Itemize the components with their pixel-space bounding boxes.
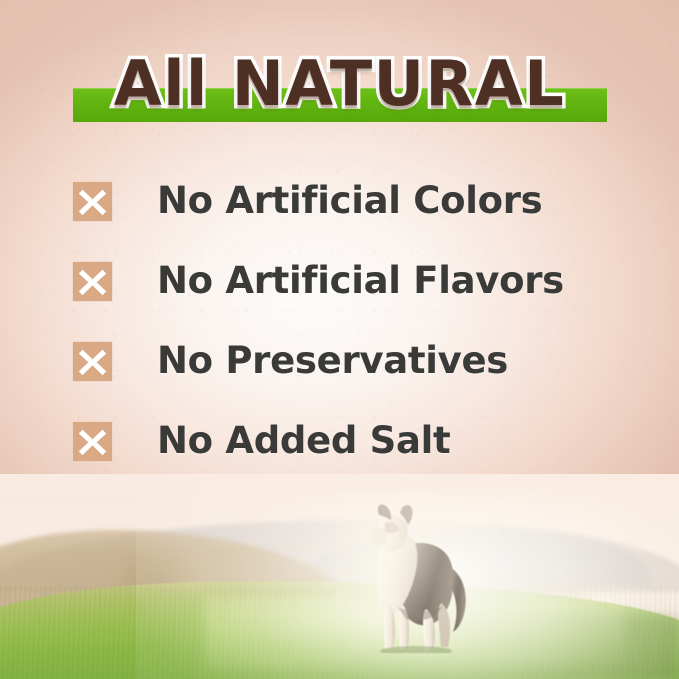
feature-label: No Artificial Flavors [157, 254, 564, 308]
hillside-landscape-icon [0, 474, 679, 679]
x-mark-icon [73, 422, 112, 461]
headline-banner: All NATURAL [0, 42, 679, 138]
x-mark-icon [73, 262, 112, 301]
feature-row: No Preservatives [73, 342, 633, 422]
feature-list: No Artificial Colors No Artificial Flavo… [73, 182, 633, 502]
feature-label: No Artificial Colors [157, 174, 542, 228]
feature-row: No Artificial Colors [73, 182, 633, 262]
x-mark-icon [73, 182, 112, 221]
x-mark-icon [73, 342, 112, 381]
dog-icon [352, 503, 480, 653]
feature-label: No Preservatives [157, 334, 508, 388]
feature-row: No Artificial Flavors [73, 262, 633, 342]
all-natural-feature-poster: All NATURAL No Artificial Colors No Arti… [0, 0, 679, 679]
feature-label: No Added Salt [157, 414, 450, 468]
poster-headline: All NATURAL [0, 48, 679, 120]
